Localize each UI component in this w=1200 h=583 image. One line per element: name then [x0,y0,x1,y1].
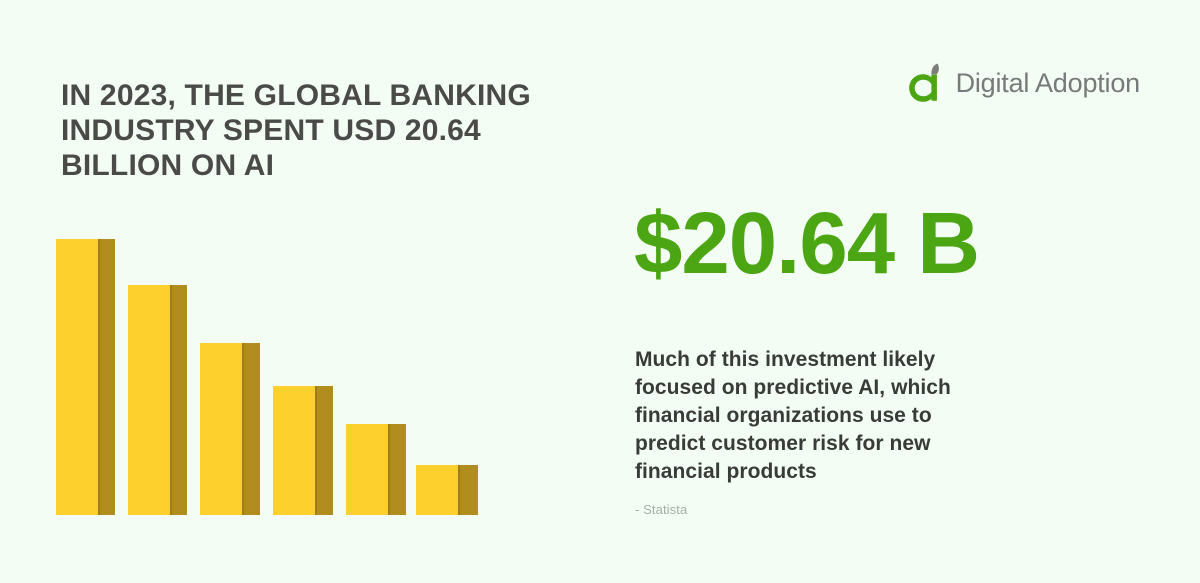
chart-bar-side-face [98,239,115,515]
chart-bar-front-face [128,285,170,515]
chart-bar-side-face [170,285,187,515]
chart-bar-side-face [388,424,406,515]
chart-bar-edge-seam [315,386,317,515]
chart-bar-front-face [273,386,315,515]
chart-bar [346,424,406,515]
chart-bar-side-face [458,465,478,515]
headline-statistic: $20.64 B [634,198,979,290]
brand-logo: Digital Adoption [907,62,1140,104]
leaf-a-logo-icon [907,62,947,104]
page-title: IN 2023, THE GLOBAL BANKING INDUSTRY SPE… [61,78,581,183]
brand-name-label: Digital Adoption [956,70,1140,97]
chart-bar [128,285,187,515]
chart-bar [56,239,115,515]
chart-bar-edge-seam [458,465,460,515]
chart-bar-edge-seam [242,343,244,515]
infographic-canvas: IN 2023, THE GLOBAL BANKING INDUSTRY SPE… [0,0,1200,583]
chart-bar-side-face [242,343,260,515]
chart-bar [200,343,260,515]
chart-bar [416,465,478,515]
chart-bar [273,386,333,515]
chart-bar-edge-seam [98,239,100,515]
chart-bar-front-face [416,465,458,515]
chart-bar-front-face [200,343,242,515]
statistic-description: Much of this investment likely focused o… [635,346,1007,486]
chart-bar-edge-seam [170,285,172,515]
source-attribution: - Statista [635,502,687,517]
chart-bar-front-face [56,239,98,515]
chart-bar-front-face [346,424,388,515]
chart-bar-edge-seam [388,424,390,515]
chart-bar-side-face [315,386,333,515]
